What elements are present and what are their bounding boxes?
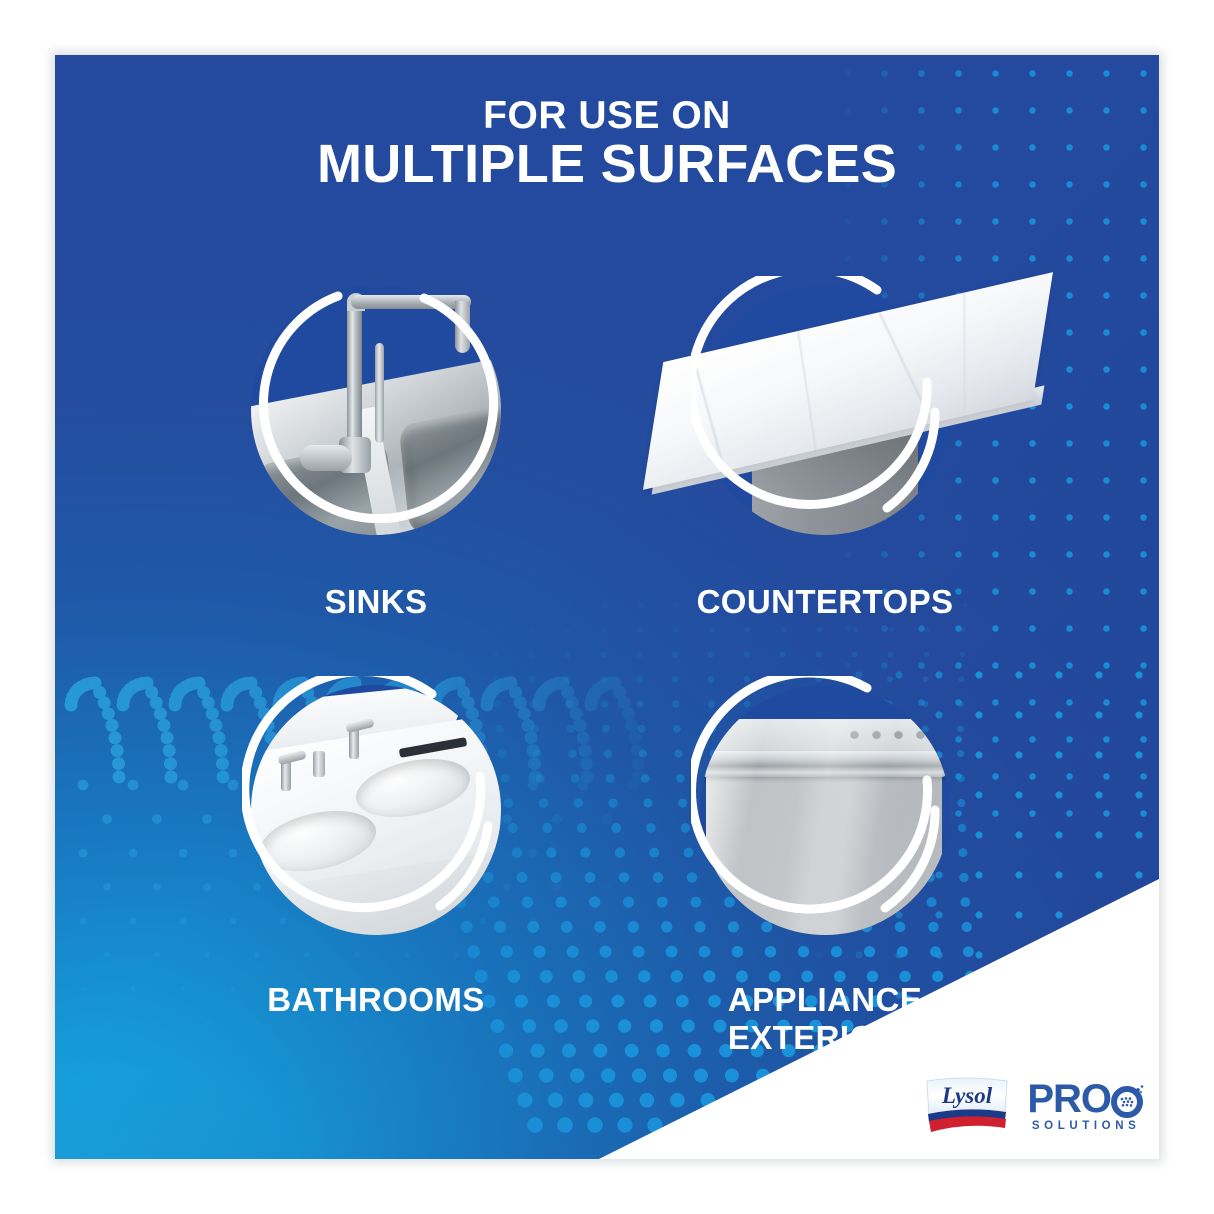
solutions-wordmark: SOLUTIONS (1032, 1120, 1141, 1132)
tile-sinks[interactable] (251, 285, 501, 535)
dishwasher-photo (700, 685, 950, 935)
tile-countertops[interactable] (700, 285, 950, 535)
tile-appliance-exteriors[interactable] (700, 685, 950, 935)
tile-caption-sinks: SINKS (196, 583, 556, 621)
poster-canvas: FOR USE ON MULTIPLE SURFACES (55, 55, 1159, 1159)
bathroom-photo (251, 685, 501, 935)
tile-bathrooms[interactable] (251, 685, 501, 935)
lysol-logo[interactable]: Lysol (921, 1075, 1013, 1137)
svg-text:Lysol: Lysol (941, 1083, 993, 1108)
globe-o-icon (1111, 1080, 1145, 1118)
footer-logos: Lysol PRO (921, 1075, 1145, 1137)
sink-photo (251, 285, 501, 535)
title-line-2: MULTIPLE SURFACES (55, 136, 1159, 193)
tile-caption-bathrooms: BATHROOMS (181, 981, 571, 1019)
pro-wordmark: PRO (1027, 1081, 1111, 1117)
title-line-1: FOR USE ON (55, 95, 1159, 136)
countertop-photo (700, 285, 950, 535)
poster-page: FOR USE ON MULTIPLE SURFACES (0, 0, 1214, 1214)
pro-solutions-logo[interactable]: PRO SOLUTIONS (1027, 1080, 1145, 1132)
tile-caption-countertops: COUNTERTOPS (645, 583, 1005, 621)
page-title: FOR USE ON MULTIPLE SURFACES (55, 95, 1159, 194)
